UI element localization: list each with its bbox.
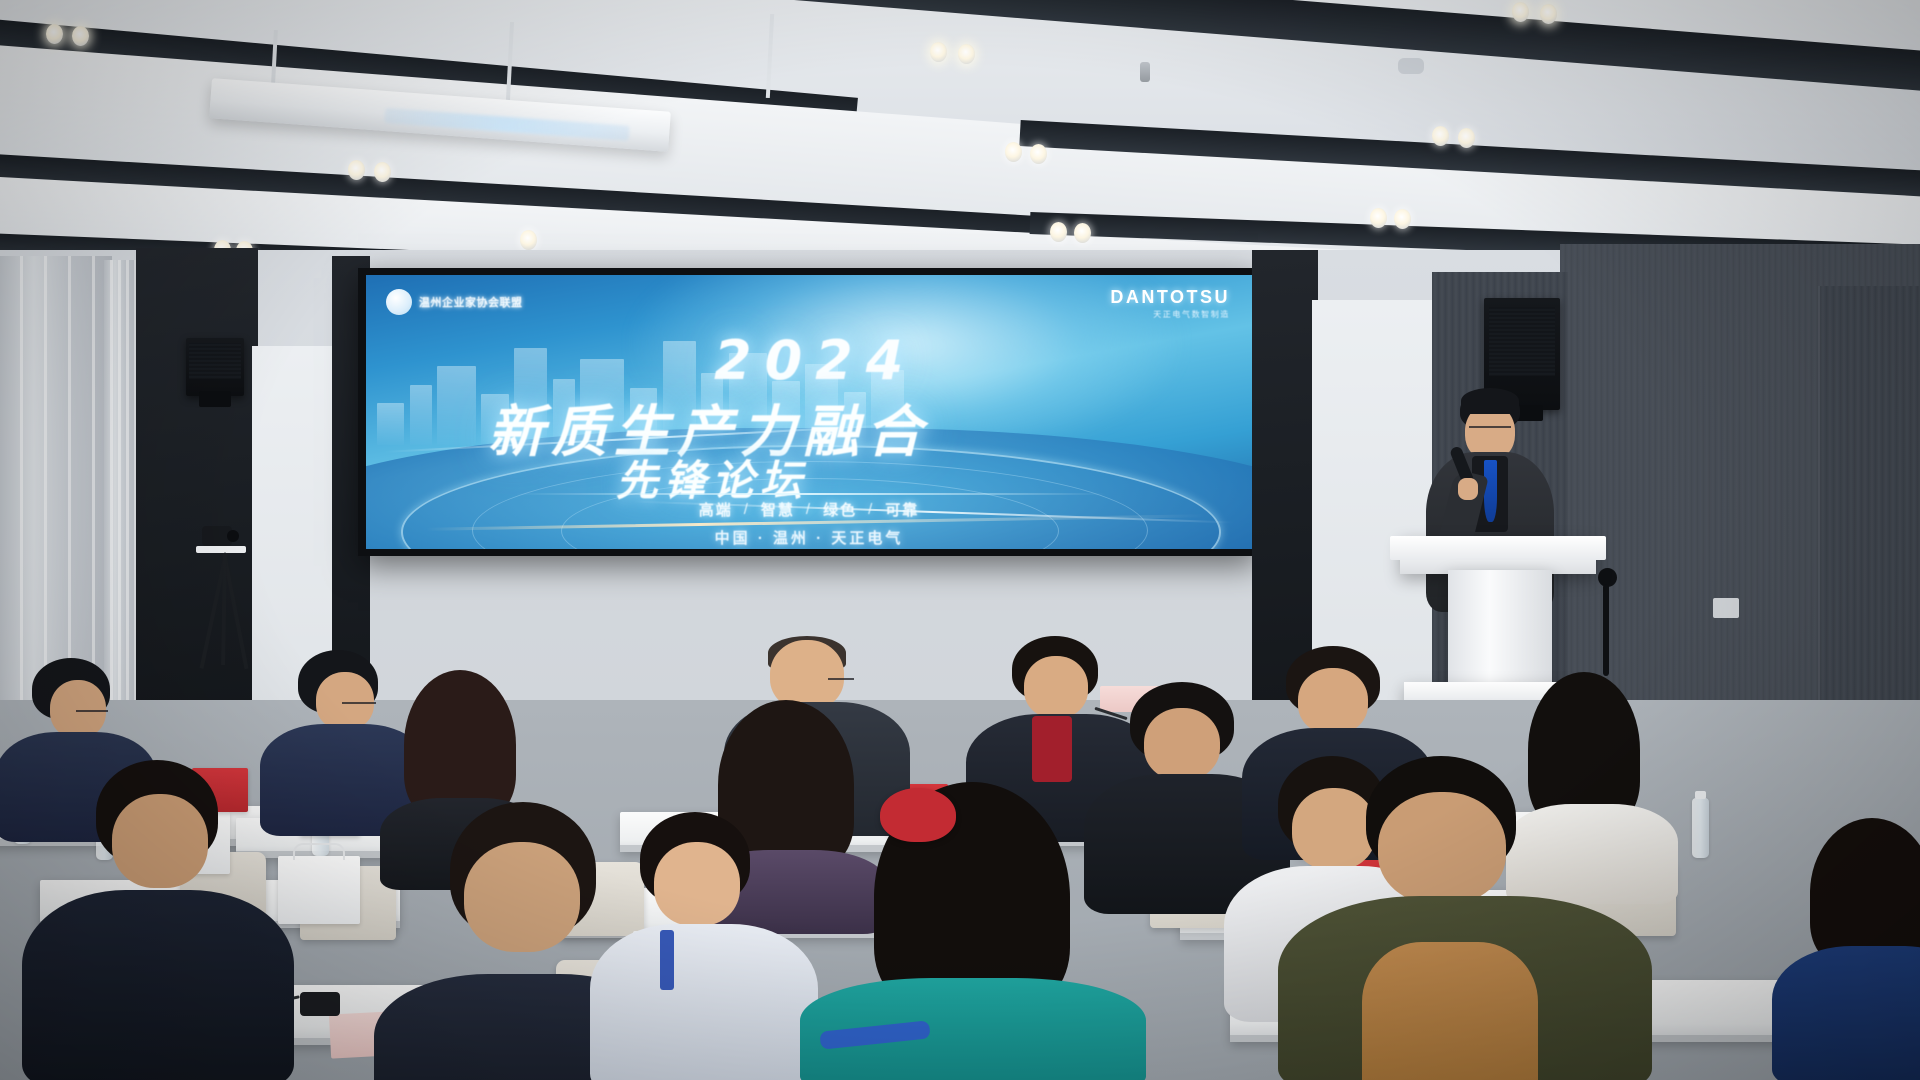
camera-shelf [196, 546, 246, 553]
conference-photo-scene: 温州企业家协会联盟 DANTOTSU 天正电气数智制造 2024 新质生产力融合… [0, 0, 1920, 1080]
audience-member-front [1786, 818, 1920, 1080]
audience-member-front [826, 782, 1126, 1080]
ceiling-spotlight [1050, 222, 1067, 242]
tagline-item: 智慧 [761, 499, 795, 520]
ceiling-spotlight [1512, 2, 1529, 22]
ceiling-spotlight [1394, 209, 1411, 229]
screen-logo-left: 温州企业家协会联盟 [386, 289, 523, 315]
tagline-item: 绿色 [823, 499, 857, 520]
ceiling-spotlight [348, 160, 365, 180]
audience-member [48, 760, 268, 1080]
folding-partition [0, 256, 112, 726]
screen-logo-left-text: 温州企业家协会联盟 [419, 294, 523, 310]
podium-top [1400, 536, 1596, 574]
gift-bag [278, 856, 360, 924]
ceiling-spotlight [1540, 4, 1557, 24]
water-bottle [1692, 798, 1709, 858]
person-necktie [1032, 716, 1072, 782]
person-torso [22, 890, 294, 1080]
lanyard [660, 930, 674, 990]
speaker-hand [1458, 478, 1478, 500]
tagline-item: 可靠 [885, 499, 919, 520]
eyeglasses-icon [342, 702, 376, 704]
remote-device [300, 992, 340, 1016]
ceiling-spotlight [72, 26, 89, 46]
brand-subtitle: 天正电气数智制造 [1110, 309, 1230, 320]
hair-bow [880, 788, 956, 842]
led-screen: 温州企业家协会联盟 DANTOTSU 天正电气数智制造 2024 新质生产力融合… [366, 275, 1252, 549]
tagline-separator: / [744, 501, 750, 518]
ceiling-spotlight [46, 24, 63, 44]
fixture-rod [766, 14, 774, 98]
ceiling-spotlight [958, 44, 975, 64]
wall-outlet [1713, 598, 1739, 618]
brand-name: DANTOTSU [1110, 287, 1230, 308]
eyeglasses-icon [76, 710, 108, 712]
association-emblem-icon [386, 289, 412, 315]
person-head [654, 842, 740, 926]
person-head [1144, 708, 1220, 780]
person-torso [590, 924, 818, 1080]
camera-tripod [200, 553, 260, 673]
screen-divider [516, 493, 1106, 495]
person-head [1298, 668, 1368, 734]
ceiling-spotlight [1030, 144, 1047, 164]
eyeglasses-icon [828, 678, 854, 680]
video-camera-icon [202, 526, 232, 546]
speaker-necktie [1484, 460, 1497, 522]
tagline-item: 高端 [699, 499, 733, 520]
ceiling-spotlight [1005, 142, 1022, 162]
screen-logo-right: DANTOTSU 天正电气数智制造 [1110, 287, 1230, 320]
sprinkler-head-icon [1140, 62, 1150, 82]
person-head [316, 672, 374, 730]
ceiling-spotlight [1432, 126, 1449, 146]
jacket-hood-panel [1362, 942, 1538, 1080]
audience-member [276, 650, 406, 820]
person-head [50, 680, 106, 738]
wall-speaker-left [186, 338, 244, 396]
person-head-balding [464, 842, 580, 952]
tagline-separator: / [868, 501, 874, 518]
ceiling-spotlight [520, 230, 537, 250]
ceiling-spotlight [1370, 208, 1387, 228]
eyeglasses-icon [1469, 426, 1511, 428]
ceiling-spotlight [930, 42, 947, 62]
person-head [1378, 792, 1506, 904]
screen-location-line: 中国 · 温州 · 天正电气 [366, 527, 1252, 548]
person-head [1024, 656, 1088, 718]
audience-member [600, 812, 800, 1080]
speaker-hairline [1461, 388, 1519, 414]
microphone-stem [1603, 584, 1609, 676]
person-torso [1772, 946, 1920, 1080]
audience-member-front [1300, 756, 1630, 1080]
ceiling-spotlight [1074, 223, 1091, 243]
tagline-separator: / [806, 501, 812, 518]
ceiling-spotlight [374, 162, 391, 182]
right-wall-door [1818, 286, 1920, 742]
person-head [112, 794, 208, 888]
screen-year: 2024 [714, 329, 916, 392]
ceiling-vent [1398, 58, 1424, 74]
ceiling-spotlight [1458, 128, 1475, 148]
